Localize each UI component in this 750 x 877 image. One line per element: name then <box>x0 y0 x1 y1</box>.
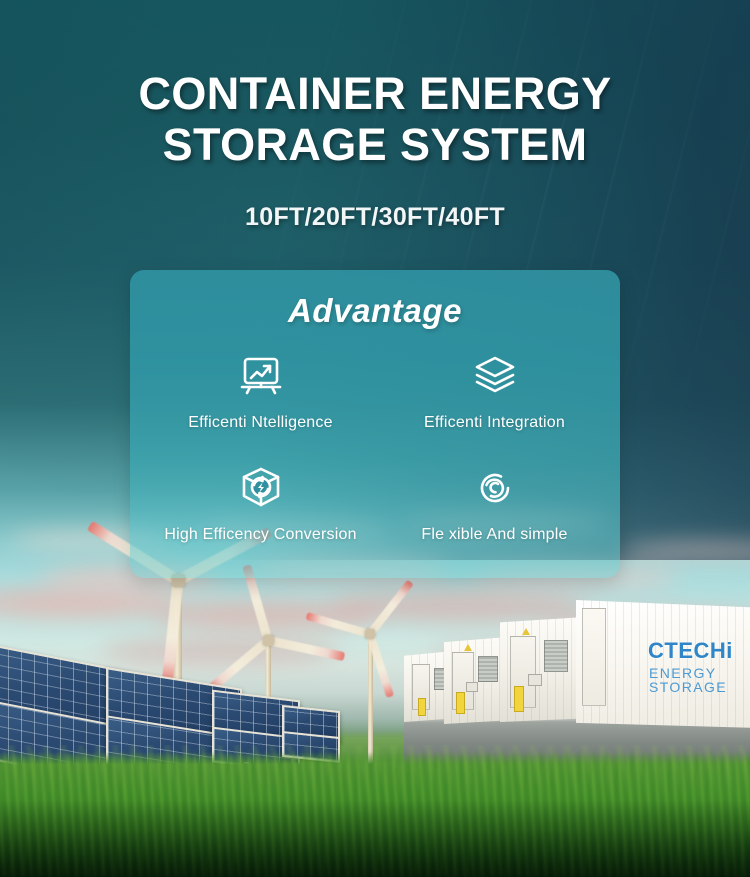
container-near-warning-label <box>514 686 524 712</box>
container-middle-hazard-icon <box>464 644 472 651</box>
container-near-placard <box>528 674 542 686</box>
ctechi-brand-tagline: ENERGY STORAGE <box>649 666 750 694</box>
turbine-blade <box>305 612 371 638</box>
advantage-feature-label: Fle xible And simple <box>372 526 617 544</box>
ctechi-brand-logo: CTECHi <box>648 640 733 662</box>
advantage-feature-item: High Efficency Conversion <box>138 458 383 544</box>
container-near-hazard-icon <box>522 628 530 635</box>
advantage-feature-item: Efficenti Ntelligence <box>138 346 383 432</box>
advantage-feature-item: Fle xible And simple <box>372 458 617 544</box>
layers-stack-icon <box>372 346 617 404</box>
advantage-title: Advantage <box>130 292 620 330</box>
container-middle-vent <box>478 656 498 682</box>
headline-line-2: STORAGE SYSTEM <box>0 119 750 170</box>
page-title: CONTAINER ENERGY STORAGE SYSTEM <box>0 68 750 170</box>
container-front-door-panel <box>582 608 606 706</box>
turbine-hub <box>365 629 375 639</box>
page-subtitle: 10FT/20FT/30FT/40FT <box>0 203 750 232</box>
presentation-chart-icon <box>138 346 383 404</box>
container-near-vent <box>544 640 568 672</box>
container-middle-warning-label <box>456 692 465 714</box>
promo-banner: CTECHi ENERGY STORAGE CONTAINER ENERGY S… <box>0 0 750 877</box>
grass-shadow-overlay <box>0 800 750 877</box>
advantage-feature-item: Efficenti Integration <box>372 346 617 432</box>
container-middle-placard <box>466 682 478 692</box>
container-far-warning-label <box>418 698 426 716</box>
spiral-swirl-icon <box>372 458 617 516</box>
advantage-feature-grid: Efficenti Ntelligence Efficenti Integrat… <box>130 342 620 578</box>
energy-conversion-box-icon <box>138 458 383 516</box>
advantage-feature-label: Efficenti Integration <box>372 414 617 432</box>
advantage-card: Advantage Efficenti Ntelligence Efficent… <box>130 270 620 578</box>
headline-line-1: CONTAINER ENERGY <box>0 68 750 119</box>
advantage-feature-label: High Efficency Conversion <box>138 526 383 544</box>
advantage-feature-label: Efficenti Ntelligence <box>138 414 383 432</box>
